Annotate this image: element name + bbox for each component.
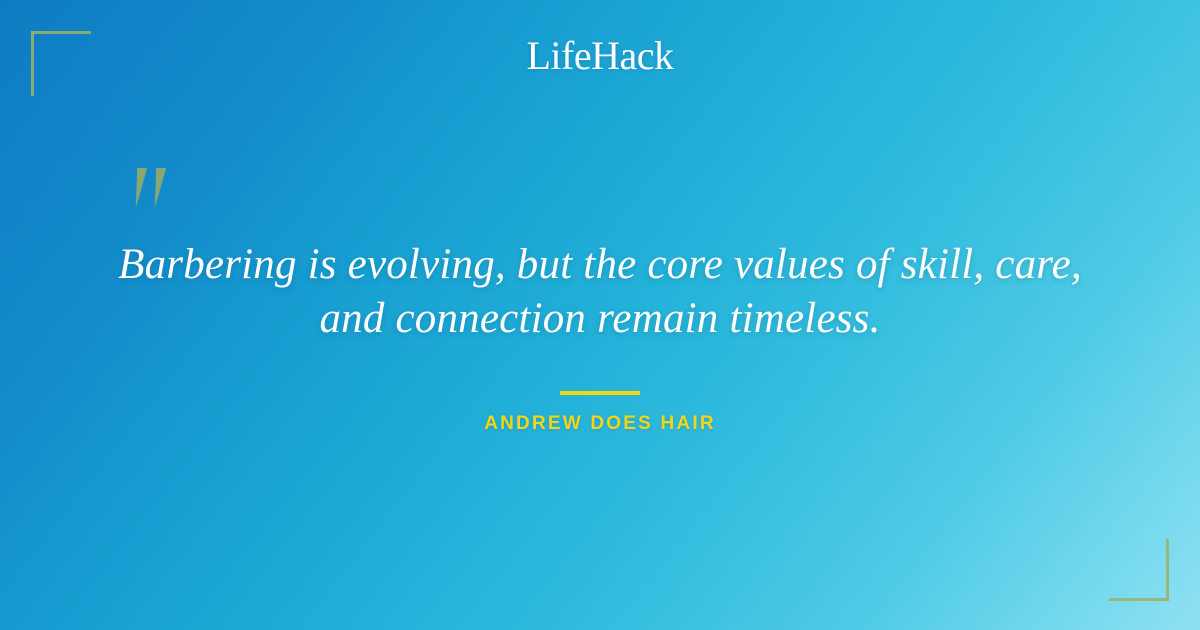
attribution-name: ANDREW DOES HAIR (484, 414, 716, 433)
quote-card: LifeHack Barbering is evolving, but the … (0, 0, 1200, 630)
logo-container: LifeHack (0, 36, 1200, 76)
quote-container: Barbering is evolving, but the core valu… (100, 238, 1100, 346)
corner-bracket-bottom-right-icon (1109, 539, 1169, 601)
quote-stroke-right (150, 168, 166, 208)
quote-text: Barbering is evolving, but the core valu… (100, 238, 1100, 346)
corner-bracket-top-line (31, 31, 91, 34)
lifehack-logo[interactable]: LifeHack (526, 36, 673, 76)
divider-rule (560, 391, 640, 395)
double-quote-icon (130, 168, 190, 228)
divider-container (0, 382, 1200, 400)
corner-bracket-bottom-line (1109, 598, 1169, 601)
attribution-container: ANDREW DOES HAIR (0, 414, 1200, 434)
corner-bracket-right-line (1166, 539, 1169, 601)
quote-stroke-left (131, 168, 147, 208)
